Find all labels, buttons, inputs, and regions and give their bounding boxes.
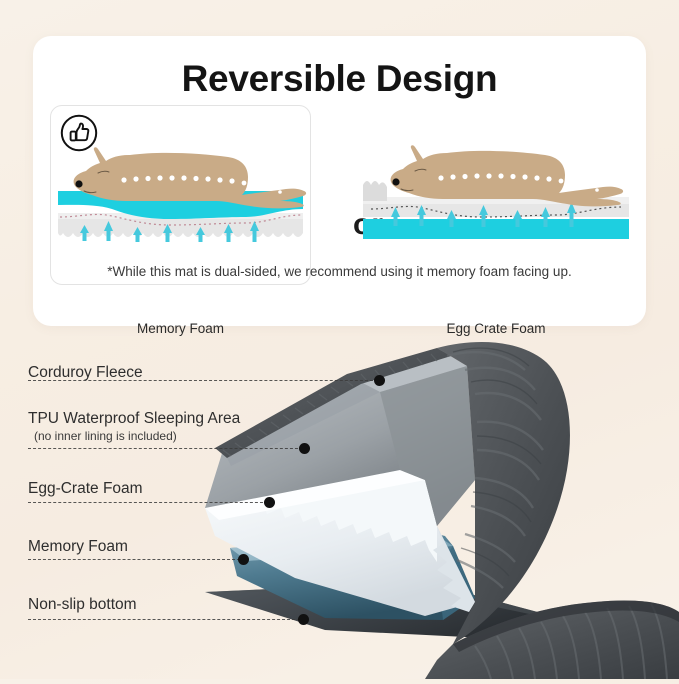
layer-label-text: Non-slip bottom bbox=[28, 596, 137, 613]
layer-label-memory-foam: Memory Foam bbox=[28, 538, 128, 556]
panel-egg-crate-up: Egg Crate Foam bbox=[363, 105, 629, 285]
layer-label-text: Egg-Crate Foam bbox=[28, 480, 143, 497]
leader-line-non-slip-bottom bbox=[28, 619, 300, 620]
dog-illustration bbox=[391, 145, 624, 206]
layer-label-text: TPU Waterproof Sleeping Area bbox=[28, 410, 240, 427]
infographic-root: Reversible Design bbox=[0, 0, 679, 679]
illustration-egg-crate-up bbox=[363, 105, 629, 255]
page-title: Reversible Design bbox=[33, 58, 646, 100]
layer-label-egg-crate-foam: Egg-Crate Foam bbox=[28, 480, 143, 498]
leader-line-corduroy-fleece bbox=[28, 380, 378, 381]
leader-dot-corduroy-fleece bbox=[374, 375, 385, 386]
leader-dot-non-slip-bottom bbox=[298, 614, 309, 625]
recommended-badge bbox=[59, 113, 99, 158]
layer-label-non-slip-bottom: Non-slip bottom bbox=[28, 596, 137, 614]
layer-label-text: Memory Foam bbox=[28, 538, 128, 555]
thumbs-up-icon bbox=[59, 113, 99, 153]
leader-line-memory-foam bbox=[28, 559, 240, 560]
leader-line-egg-crate-foam bbox=[28, 502, 268, 503]
panel-memory-foam-up: Memory Foam bbox=[50, 105, 311, 285]
layer-label-text: Corduroy Fleece bbox=[28, 364, 143, 381]
product-photo bbox=[175, 330, 679, 679]
memory-foam-layer bbox=[363, 219, 629, 239]
leader-dot-egg-crate-foam bbox=[264, 497, 275, 508]
layer-label-subtext: (no inner lining is included) bbox=[28, 429, 240, 443]
leader-dot-tpu-waterproof bbox=[299, 443, 310, 454]
leader-dot-memory-foam bbox=[238, 554, 249, 565]
footnote-text: *While this mat is dual-sided, we recomm… bbox=[33, 264, 646, 279]
leader-line-tpu-waterproof bbox=[28, 448, 303, 449]
layer-breakdown-section: Corduroy Fleece TPU Waterproof Sleeping … bbox=[0, 330, 679, 679]
reversible-design-card: Reversible Design bbox=[33, 36, 646, 326]
dog-illustration bbox=[74, 147, 307, 208]
layer-label-tpu-waterproof: TPU Waterproof Sleeping Area (no inner l… bbox=[28, 410, 240, 443]
